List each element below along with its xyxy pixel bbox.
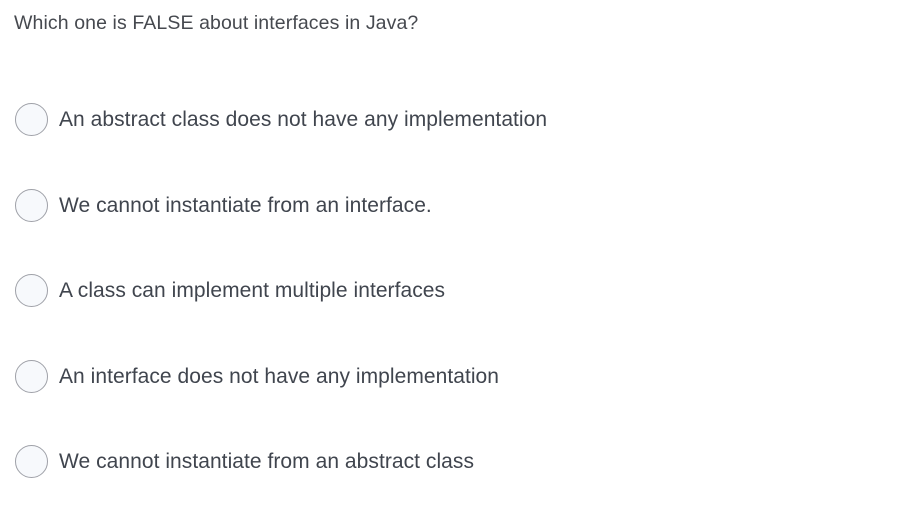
answer-option-3[interactable]: A class can implement multiple interface… (0, 266, 922, 352)
answer-option-label[interactable]: An interface does not have any implement… (59, 363, 922, 390)
answer-option-label[interactable]: A class can implement multiple interface… (59, 277, 922, 304)
answer-option-2[interactable]: We cannot instantiate from an interface. (0, 181, 922, 267)
answer-option-4[interactable]: An interface does not have any implement… (0, 352, 922, 438)
answer-options-list: An abstract class does not have any impl… (0, 95, 922, 523)
radio-unselected-icon[interactable] (15, 274, 48, 307)
quiz-question-panel: Which one is FALSE about interfaces in J… (0, 0, 922, 519)
radio-unselected-icon[interactable] (15, 103, 48, 136)
radio-unselected-icon[interactable] (15, 360, 48, 393)
answer-option-label[interactable]: We cannot instantiate from an interface. (59, 192, 922, 219)
answer-option-label[interactable]: We cannot instantiate from an abstract c… (59, 448, 922, 475)
radio-unselected-icon[interactable] (15, 445, 48, 478)
answer-option-label[interactable]: An abstract class does not have any impl… (59, 106, 922, 133)
answer-option-5[interactable]: We cannot instantiate from an abstract c… (0, 437, 922, 523)
question-prompt: Which one is FALSE about interfaces in J… (14, 10, 418, 36)
radio-unselected-icon[interactable] (15, 189, 48, 222)
answer-option-1[interactable]: An abstract class does not have any impl… (0, 95, 922, 181)
